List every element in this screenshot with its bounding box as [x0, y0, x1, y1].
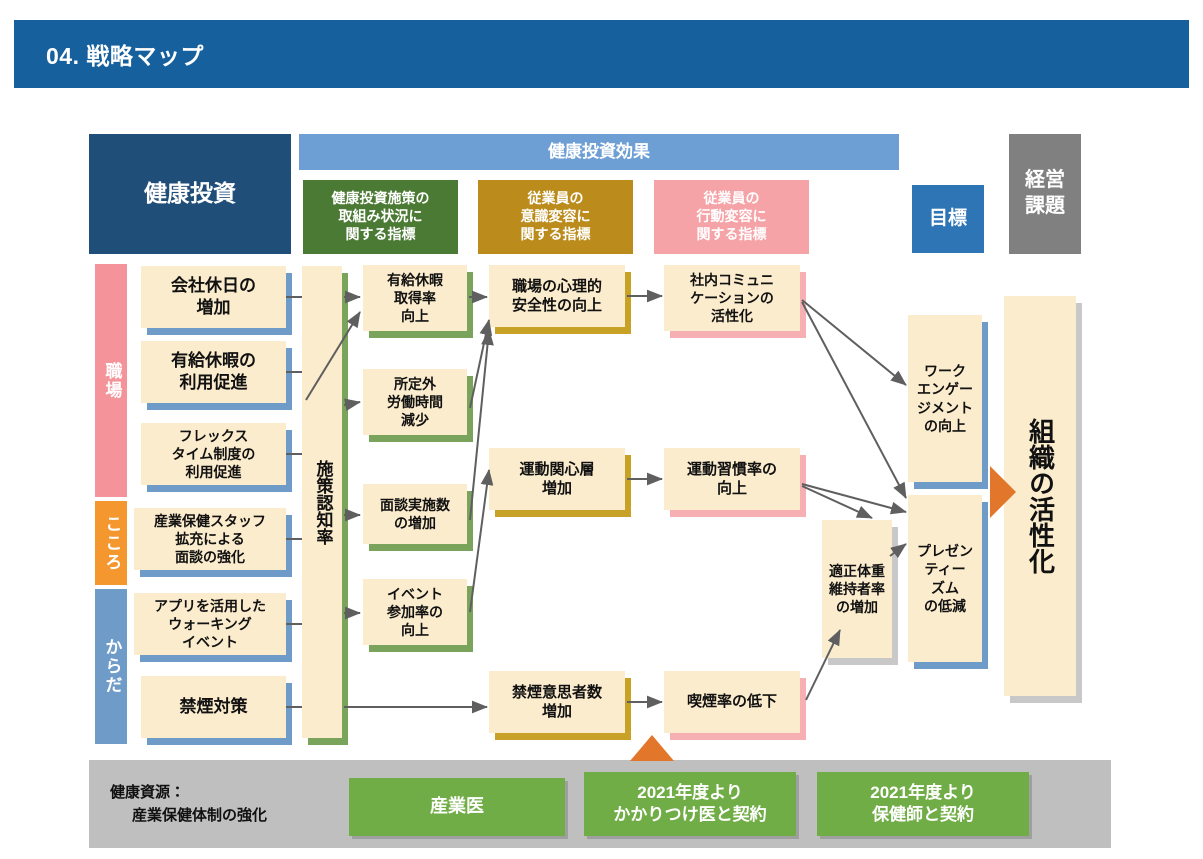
- behavior-header-line-1: 従業員の: [704, 190, 760, 208]
- strategy-map-slide: 04. 戦略マップ 健康投資 健康投資効果 健康投資施策の 取組み状況に 関する…: [0, 0, 1203, 859]
- issue-header-line-1: 経営: [1025, 168, 1065, 194]
- arrow-group-awareness-to-behavior: [627, 296, 662, 702]
- node-investment-walking-event: アプリを活用した ウォーキング イベント: [134, 593, 286, 655]
- awareness-header-line-2: 意識変容に: [521, 208, 591, 226]
- node-behavior-exercise-habit-line-2: 向上: [713, 479, 751, 499]
- orange-arrow-to-outcome: [990, 466, 1016, 518]
- category-label-body: からだ: [102, 638, 121, 695]
- node-behavior-exercise-habit: 運動習慣率の 向上: [664, 448, 800, 510]
- node-goal-work-engagement: ワーク エンゲー ジメント の向上: [908, 315, 982, 482]
- resource-item-occupational-physician-label: 産業医: [430, 795, 484, 818]
- behavior-header-line-2: 行動変容に: [697, 208, 767, 226]
- node-behavior-proper-weight-line-1: 適正体重: [825, 562, 889, 580]
- node-awareness-exercise-interest-line-1: 運動関心層: [515, 460, 598, 480]
- category-stripe-body: からだ: [95, 589, 127, 744]
- column-header-investment: 健康投資: [89, 134, 291, 254]
- resource-item-family-doctor-contract-line-1: 2021年度より: [637, 782, 742, 804]
- node-policy-interview-count-line-2: の増加: [390, 514, 440, 532]
- node-goal-work-engagement-line-3: ジメント: [913, 399, 977, 417]
- node-goal-work-engagement-line-2: エンゲー: [913, 380, 977, 398]
- node-behavior-proper-weight-line-3: の増加: [832, 598, 882, 616]
- node-awareness-psych-safety-line-1: 職場の心理的: [508, 277, 606, 297]
- node-policy-awareness-rate-label: 施策認知率: [307, 460, 338, 545]
- node-behavior-internal-communication-line-3: 活性化: [707, 307, 757, 325]
- resource-item-family-doctor-contract-line-2: かかりつけ医と契約: [613, 804, 766, 826]
- category-label-mind: こころ: [102, 515, 121, 572]
- resource-band-label: 健康資源： 産業保健体制の強化: [110, 782, 340, 827]
- node-awareness-quit-smoking-intent-line-1: 禁煙意思者数: [508, 683, 606, 703]
- node-investment-flextime: フレックス タイム制度の 利用促進: [141, 423, 286, 485]
- node-behavior-internal-communication: 社内コミュニ ケーションの 活性化: [664, 265, 800, 331]
- policy-status-line-2: 取組み状況に: [339, 208, 423, 226]
- node-policy-overtime-reduction-line-3: 減少: [397, 411, 433, 429]
- node-investment-flextime-line-2: タイム制度の: [168, 445, 260, 463]
- node-investment-holidays: 会社休日の 増加: [141, 266, 286, 328]
- node-investment-occupational-staff: 産業保健スタッフ 拡充による 面談の強化: [134, 508, 286, 570]
- node-investment-paid-leave-line-2: 利用促進: [176, 372, 252, 394]
- node-investment-paid-leave: 有給休暇の 利用促進: [141, 341, 286, 403]
- resource-label-line-2: 産業保健体制の強化: [110, 805, 340, 828]
- node-policy-event-participation: イベント 参加率の 向上: [363, 579, 467, 645]
- node-investment-occupational-staff-line-2: 拡充による: [171, 530, 249, 548]
- column-header-issue: 経営 課題: [1009, 134, 1081, 254]
- node-policy-paid-leave-rate-line-3: 向上: [397, 307, 433, 325]
- resource-item-public-health-nurse-contract-line-2: 保健師と契約: [872, 804, 974, 826]
- node-investment-flextime-line-3: 利用促進: [182, 463, 246, 481]
- column-header-behavior: 従業員の 行動変容に 関する指標: [654, 180, 809, 254]
- category-stripe-workplace: 職場: [95, 264, 127, 497]
- node-policy-overtime-reduction-line-2: 労働時間: [383, 393, 447, 411]
- node-outcome-organizational-vitality-label: 組織の活性化: [1018, 418, 1061, 574]
- node-policy-paid-leave-rate: 有給休暇 取得率 向上: [363, 265, 467, 331]
- node-behavior-internal-communication-line-2: ケーションの: [686, 289, 778, 307]
- node-policy-awareness-rate: 施策認知率: [302, 266, 342, 738]
- node-investment-flextime-line-1: フレックス: [175, 427, 253, 445]
- column-header-effect-label: 健康投資効果: [548, 141, 650, 163]
- node-investment-occupational-staff-line-1: 産業保健スタッフ: [150, 512, 270, 530]
- node-behavior-smoking-rate-decline: 喫煙率の低下: [664, 671, 800, 733]
- node-goal-presenteeism-line-2: ティー: [920, 560, 969, 578]
- awareness-header-line-1: 従業員の: [528, 190, 584, 208]
- node-investment-walking-event-line-1: アプリを活用した: [150, 597, 270, 615]
- node-awareness-exercise-interest-line-2: 増加: [538, 479, 576, 499]
- node-policy-event-participation-line-1: イベント: [383, 585, 447, 603]
- node-policy-overtime-reduction-line-1: 所定外: [390, 375, 440, 393]
- node-awareness-psych-safety-line-2: 安全性の向上: [508, 296, 606, 316]
- node-behavior-smoking-rate-decline-label: 喫煙率の低下: [683, 692, 781, 712]
- node-behavior-proper-weight: 適正体重 維持者率 の増加: [822, 520, 892, 658]
- node-policy-event-participation-line-3: 向上: [397, 621, 433, 639]
- node-goal-presenteeism: プレゼン ティー ズム の低減: [908, 495, 982, 662]
- node-investment-walking-event-line-3: イベント: [178, 633, 242, 651]
- node-goal-presenteeism-line-1: プレゼン: [913, 542, 977, 560]
- issue-header-line-2: 課題: [1025, 194, 1065, 220]
- node-goal-work-engagement-line-1: ワーク: [920, 362, 970, 380]
- category-label-workplace: 職場: [102, 362, 121, 400]
- node-investment-smoking-measures-label: 禁煙対策: [176, 696, 252, 718]
- node-behavior-proper-weight-line-2: 維持者率: [825, 580, 889, 598]
- node-investment-walking-event-line-2: ウォーキング: [164, 615, 256, 633]
- column-header-awareness: 従業員の 意識変容に 関する指標: [478, 180, 633, 254]
- node-behavior-exercise-habit-line-1: 運動習慣率の: [683, 460, 781, 480]
- page-title: 04. 戦略マップ: [46, 37, 204, 71]
- behavior-header-line-3: 関する指標: [697, 226, 767, 244]
- node-goal-work-engagement-line-4: の向上: [920, 417, 970, 435]
- resource-item-public-health-nurse-contract-line-1: 2021年度より: [870, 782, 975, 804]
- column-header-goal-label: 目標: [929, 207, 967, 231]
- node-goal-presenteeism-line-3: ズム: [927, 579, 963, 597]
- resource-item-public-health-nurse-contract[interactable]: 2021年度より 保健師と契約: [817, 772, 1029, 836]
- node-policy-paid-leave-rate-line-1: 有給休暇: [383, 271, 447, 289]
- node-awareness-exercise-interest: 運動関心層 増加: [489, 448, 625, 510]
- resource-label-line-1: 健康資源：: [110, 784, 185, 801]
- node-policy-interview-count-line-1: 面談実施数: [376, 496, 454, 514]
- node-awareness-psych-safety: 職場の心理的 安全性の向上: [489, 265, 625, 327]
- column-header-policy-status: 健康投資施策の 取組み状況に 関する指標: [303, 180, 458, 254]
- node-awareness-quit-smoking-intent-line-2: 増加: [538, 702, 576, 722]
- slide-title-bar: 04. 戦略マップ: [14, 20, 1189, 88]
- node-policy-overtime-reduction: 所定外 労働時間 減少: [363, 369, 467, 435]
- column-header-goal: 目標: [912, 185, 984, 253]
- node-behavior-internal-communication-line-1: 社内コミュニ: [686, 271, 778, 289]
- node-investment-smoking-measures: 禁煙対策: [141, 676, 286, 738]
- node-goal-presenteeism-line-4: の低減: [920, 597, 970, 615]
- orange-arrow-resources-up: [630, 735, 674, 761]
- column-header-effect-banner: 健康投資効果: [299, 134, 899, 170]
- node-investment-holidays-line-1: 会社休日の: [167, 275, 260, 297]
- node-investment-holidays-line-2: 増加: [193, 297, 235, 319]
- policy-status-line-1: 健康投資施策の: [332, 190, 430, 208]
- resource-item-family-doctor-contract[interactable]: 2021年度より かかりつけ医と契約: [584, 772, 796, 836]
- node-policy-event-participation-line-2: 参加率の: [383, 603, 447, 621]
- node-investment-occupational-staff-line-3: 面談の強化: [171, 548, 249, 566]
- column-header-investment-label: 健康投資: [144, 179, 236, 208]
- node-awareness-quit-smoking-intent: 禁煙意思者数 増加: [489, 671, 625, 733]
- awareness-header-line-3: 関する指標: [521, 226, 591, 244]
- node-policy-interview-count: 面談実施数 の増加: [363, 484, 467, 544]
- node-policy-paid-leave-rate-line-2: 取得率: [390, 289, 440, 307]
- node-investment-paid-leave-line-1: 有給休暇の: [167, 350, 260, 372]
- category-stripe-mind: こころ: [95, 501, 127, 585]
- resource-item-occupational-physician[interactable]: 産業医: [349, 778, 565, 836]
- policy-status-line-3: 関する指標: [346, 226, 416, 244]
